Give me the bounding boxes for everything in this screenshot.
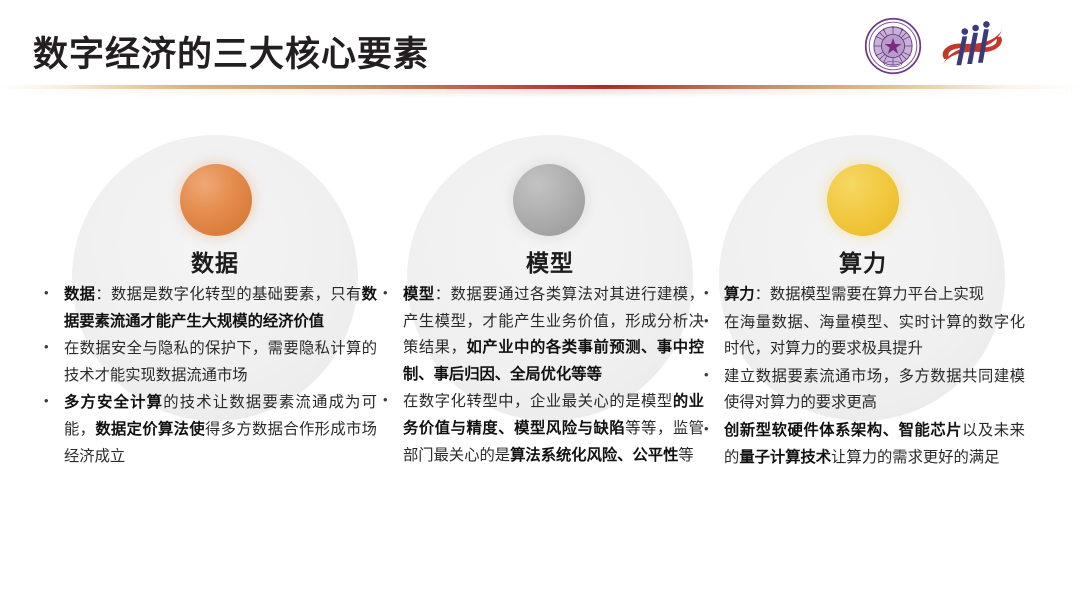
list-item: 数据：数据是数字化转型的基础要素，只有数据要素流通才能产生大规模的经济价值 <box>35 282 377 335</box>
column-power: 算力 算力：数据模型需要在算力平台上实现 在海量数据、海量模型、实时计算的数字化… <box>683 118 1043 608</box>
list-item: 创新型软硬件体系架构、智能芯片以及未来的量子计算技术让算力的需求更好的满足 <box>695 418 1025 471</box>
three-elements-section: 数据 数据：数据是数字化转型的基础要素，只有数据要素流通才能产生大规模的经济价值… <box>0 118 1080 608</box>
list-item: 建立数据要素流通市场，多方数据共同建模使得对算力的要求更高 <box>695 364 1025 417</box>
column-model: 模型 模型：数据要通过各类算法对其进行建模，产生模型，才能产生业务价值，形成分析… <box>360 118 720 608</box>
page-title: 数字经济的三大核心要素 <box>33 26 429 77</box>
list-item: 多方安全计算的技术让数据要素流通成为可能，数据定价算法使得多方数据合作形成市场经… <box>35 390 377 470</box>
column-data: 数据 数据：数据是数字化转型的基础要素，只有数据要素流通才能产生大规模的经济价值… <box>35 118 395 608</box>
bullet-list-power: 算力：数据模型需要在算力平台上实现 在海量数据、海量模型、实时计算的数字化时代，… <box>695 282 1025 472</box>
column-title-data: 数据 <box>35 244 395 278</box>
list-item: 模型：数据要通过各类算法对其进行建模，产生模型，才能产生业务价值，形成分析决策结… <box>374 282 704 388</box>
list-item: 算力：数据模型需要在算力平台上实现 <box>695 282 1025 309</box>
power-bubble <box>827 164 899 236</box>
institute-mark-logo <box>936 16 1008 76</box>
bullet-list-model: 模型：数据要通过各类算法对其进行建模，产生模型，才能产生业务价值，形成分析决策结… <box>374 282 704 470</box>
bullet-list-data: 数据：数据是数字化转型的基础要素，只有数据要素流通才能产生大规模的经济价值 在数… <box>35 282 377 471</box>
list-item: 在数字化转型中，企业最关心的是模型的业务价值与精度、模型风险与缺陷等等，监管部门… <box>374 389 704 469</box>
slide-header: 数字经济的三大核心要素 <box>0 0 1080 96</box>
list-item: 在数据安全与隐私的保护下，需要隐私计算的技术才能实现数据流通市场 <box>35 336 377 389</box>
list-item: 在海量数据、海量模型、实时计算的数字化时代，对算力的要求极具提升 <box>695 310 1025 363</box>
slide-root: 数字经济的三大核心要素 <box>0 0 1080 608</box>
logo-group <box>864 14 1008 78</box>
data-bubble <box>180 164 252 236</box>
model-bubble <box>513 164 585 236</box>
column-title-power: 算力 <box>683 244 1043 278</box>
column-title-model: 模型 <box>370 244 730 278</box>
university-seal-logo <box>864 17 922 75</box>
title-divider-glow <box>0 88 1080 94</box>
